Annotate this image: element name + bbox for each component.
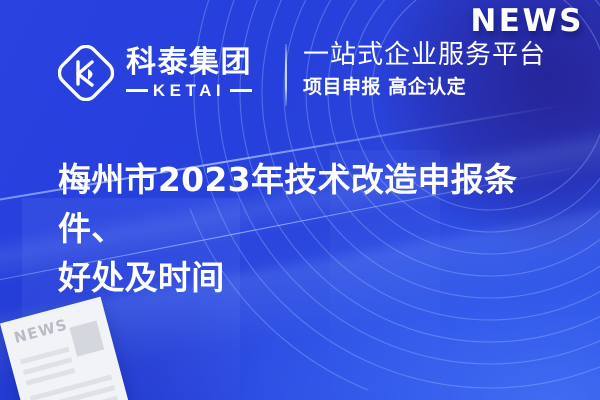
news-badge-label: NEWS [470,6,584,37]
brand-name-en: KETAI [153,82,225,99]
tagline-secondary: 项目申报 高企认定 [303,75,546,100]
wordmark-dash-left [126,89,148,92]
brand-wordmark: 科泰集团 KETAI [126,47,252,99]
brand-name-cn: 科泰集团 [126,47,252,79]
brand-tagline-divider [285,44,287,106]
page-title-line-2: 好处及时间 [58,254,558,303]
ketai-logo-icon [58,45,114,101]
brand-lockup: 科泰集团 KETAI [58,36,252,110]
tagline-primary: 一站式企业服务平台 [303,40,546,71]
news-banner-card: 科泰集团 KETAI 一站式企业服务平台 项目申报 高企认定 NEWS 梅州市2… [0,0,600,400]
brand-name-en-row: KETAI [126,82,252,99]
tagline-block: 一站式企业服务平台 项目申报 高企认定 [303,40,546,99]
page-title-line-1: 梅州市2023年技术改造申报条件、 [58,156,558,254]
page-title: 梅州市2023年技术改造申报条件、 好处及时间 [58,156,558,302]
newspaper-image-placeholder-icon [69,320,104,356]
wordmark-dash-right [230,89,252,92]
